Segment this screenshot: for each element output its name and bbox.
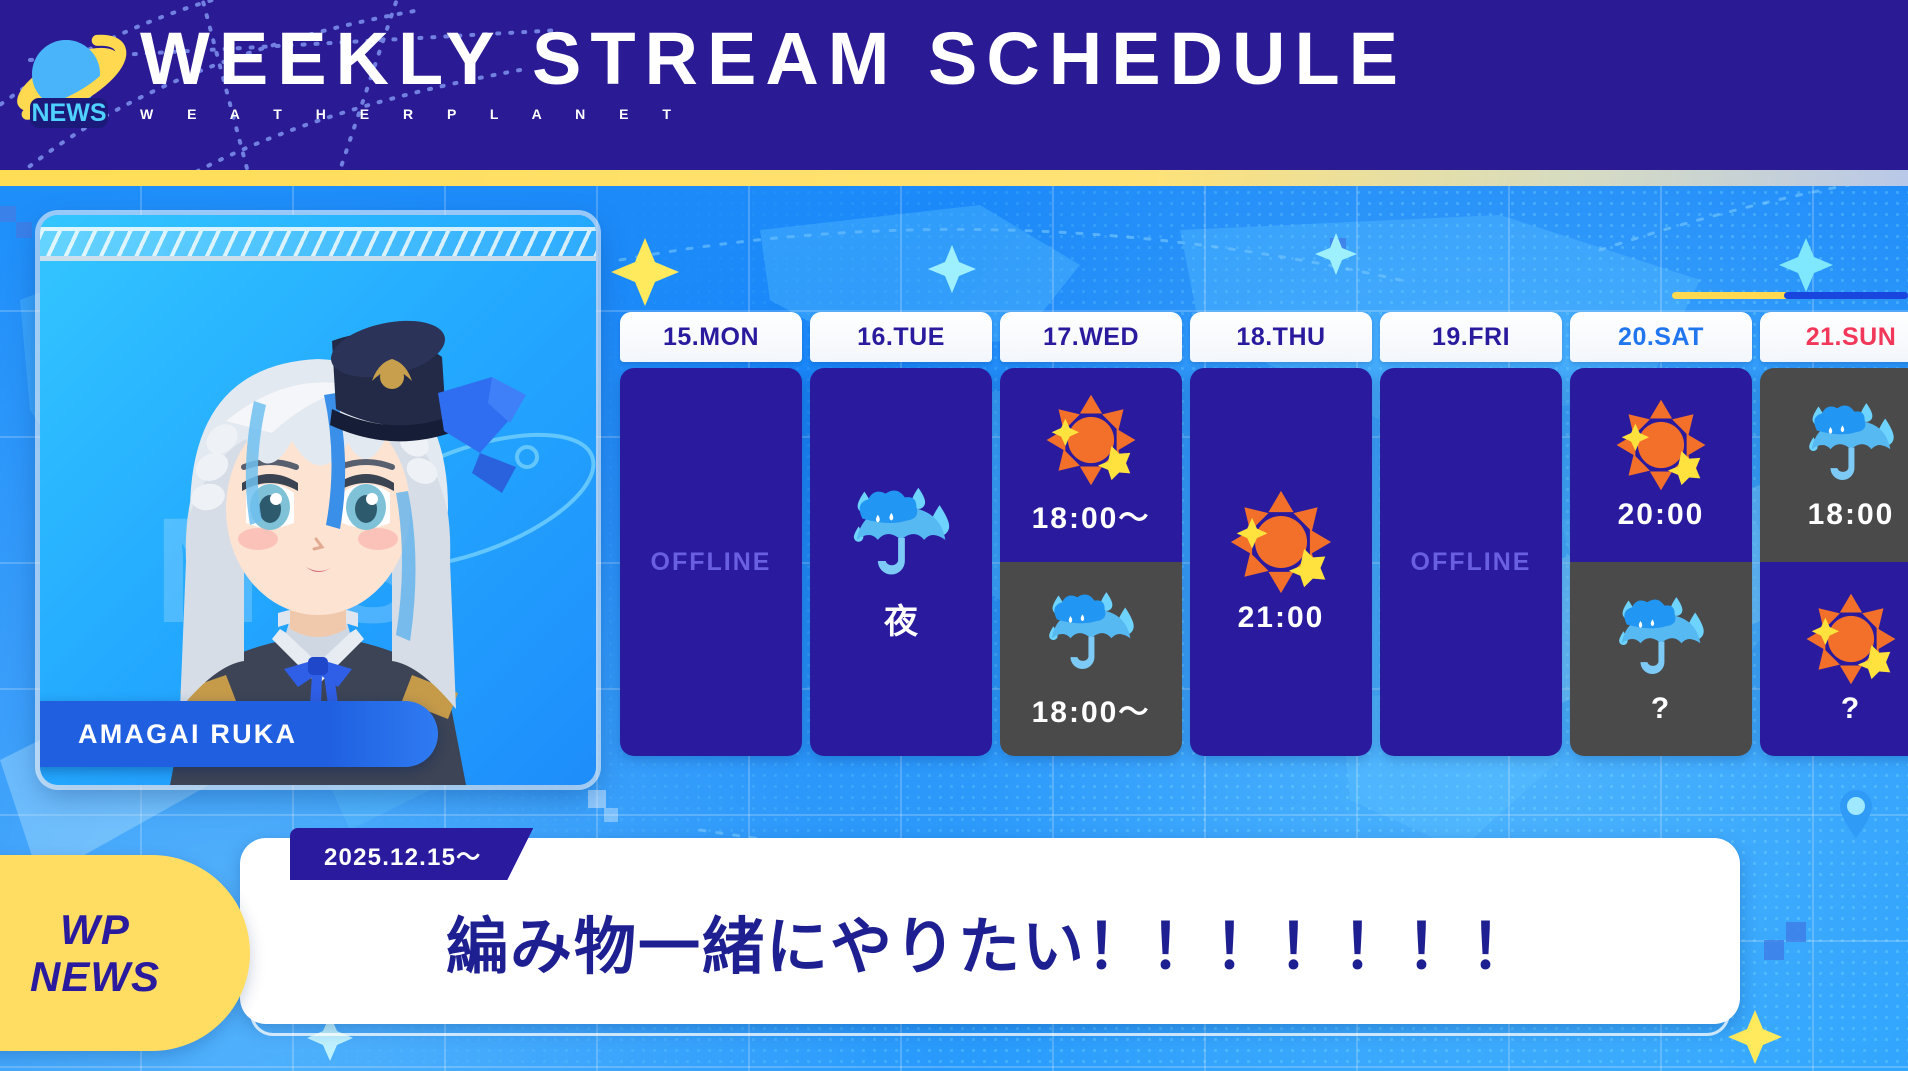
day-label: 21.SUN xyxy=(1806,323,1897,352)
character-card: NS xyxy=(40,215,596,785)
day-label: 17.WED xyxy=(1043,323,1139,352)
schedule-slot[interactable]: 夜 xyxy=(810,368,992,756)
slot-offline-label: OFFLINE xyxy=(651,548,772,577)
day-body: 18:00～18:00～ xyxy=(1000,368,1182,756)
schedule-slot[interactable]: 21:00 xyxy=(1190,368,1372,756)
logo-badge-text: NEWS xyxy=(32,99,107,127)
day-body: OFFLINE xyxy=(620,368,802,756)
page-subtitle: W E A T H E R P L A N E T xyxy=(140,106,1407,122)
day-column-thu: 18.THU21:00 xyxy=(1190,312,1372,756)
slot-offline-label: OFFLINE xyxy=(1411,548,1532,577)
character-nameplate: AMAGAI RUKA xyxy=(40,701,438,767)
news-date-tab: 2025.12.15～ xyxy=(290,828,533,880)
sun-sparkle-icon xyxy=(1222,489,1340,595)
slot-time-label: 20:00 xyxy=(1618,498,1705,532)
header-accent-stripe xyxy=(0,170,1908,186)
slot-time-label: 21:00 xyxy=(1238,601,1325,635)
day-body: 18:00? xyxy=(1760,368,1908,756)
day-header: 20.SAT xyxy=(1570,312,1752,362)
day-column-tue: 16.TUE夜 xyxy=(810,312,992,756)
day-header: 15.MON xyxy=(620,312,802,362)
slot-time-label: ? xyxy=(1841,692,1861,726)
day-body: OFFLINE xyxy=(1380,368,1562,756)
wp-pill-line1: WP xyxy=(60,906,130,953)
day-label: 15.MON xyxy=(663,323,759,352)
schedule-slot[interactable]: ? xyxy=(1570,562,1752,756)
day-body: 20:00? xyxy=(1570,368,1752,756)
sun-sparkle-icon xyxy=(1609,398,1713,492)
rain-umbrella-icon xyxy=(1039,587,1143,681)
day-column-fri: 19.FRIOFFLINE xyxy=(1380,312,1562,756)
sun-sparkle-icon xyxy=(1799,592,1903,686)
day-label: 20.SAT xyxy=(1618,323,1704,352)
title-block: WEEKLY STREAM SCHEDULE W E A T H E R P L… xyxy=(140,22,1407,122)
wp-pill-line2: NEWS xyxy=(30,953,160,1000)
day-column-mon: 15.MONOFFLINE xyxy=(620,312,802,756)
day-column-sun: 21.SUN18:00? xyxy=(1760,312,1908,756)
day-label: 16.TUE xyxy=(857,323,945,352)
slot-time-label: 18:00～ xyxy=(1032,493,1151,537)
day-body: 夜 xyxy=(810,368,992,756)
day-column-sat: 20.SAT20:00? xyxy=(1570,312,1752,756)
day-header: 21.SUN xyxy=(1760,312,1908,362)
card-top-decoration xyxy=(40,227,596,261)
schedule-grid: 15.MONOFFLINE16.TUE夜17.WED18:00～18:00～18… xyxy=(620,312,1908,756)
schedule-slot[interactable]: 18:00 xyxy=(1760,368,1908,562)
day-header: 17.WED xyxy=(1000,312,1182,362)
character-name: AMAGAI RUKA xyxy=(78,719,297,750)
news-banner: 2025.12.15～ 編み物一緒にやりたい！！！！！！！ xyxy=(240,838,1740,1024)
slot-time-label: 18:00 xyxy=(1808,498,1895,532)
sun-sparkle-icon xyxy=(1039,393,1143,487)
day-header: 19.FRI xyxy=(1380,312,1562,362)
rain-umbrella-icon xyxy=(1799,398,1903,492)
slot-time-label: 夜 xyxy=(884,594,918,643)
news-date-text: 2025.12.15～ xyxy=(324,837,481,872)
accent-bar xyxy=(1672,292,1908,299)
schedule-slot[interactable]: 18:00～ xyxy=(1000,368,1182,562)
wp-news-pill: WP NEWS xyxy=(0,855,250,1051)
day-body: 21:00 xyxy=(1190,368,1372,756)
day-label: 19.FRI xyxy=(1432,323,1510,352)
schedule-slot[interactable]: 20:00 xyxy=(1570,368,1752,562)
schedule-slot[interactable]: OFFLINE xyxy=(620,368,802,756)
day-header: 18.THU xyxy=(1190,312,1372,362)
news-headline: 編み物一緒にやりたい！！！！！！！ xyxy=(240,896,1740,986)
map-pin-icon xyxy=(1840,790,1872,838)
slot-time-label: ? xyxy=(1651,692,1671,726)
page-title: WEEKLY STREAM SCHEDULE xyxy=(140,22,1407,96)
weekly-schedule-poster: NEWS WEEKLY STREAM SCHEDULE W E A T H E … xyxy=(0,0,1908,1071)
slot-time-label: 18:00～ xyxy=(1032,687,1151,731)
schedule-slot[interactable]: OFFLINE xyxy=(1380,368,1562,756)
day-header: 16.TUE xyxy=(810,312,992,362)
day-column-wed: 17.WED18:00～18:00～ xyxy=(1000,312,1182,756)
schedule-slot[interactable]: ? xyxy=(1760,562,1908,756)
day-label: 18.THU xyxy=(1236,323,1325,352)
poster-header: NEWS WEEKLY STREAM SCHEDULE W E A T H E … xyxy=(0,0,1908,170)
rain-umbrella-icon xyxy=(842,482,960,588)
planet-logo: NEWS xyxy=(8,18,128,138)
rain-umbrella-icon xyxy=(1609,592,1713,686)
schedule-slot[interactable]: 18:00～ xyxy=(1000,562,1182,756)
